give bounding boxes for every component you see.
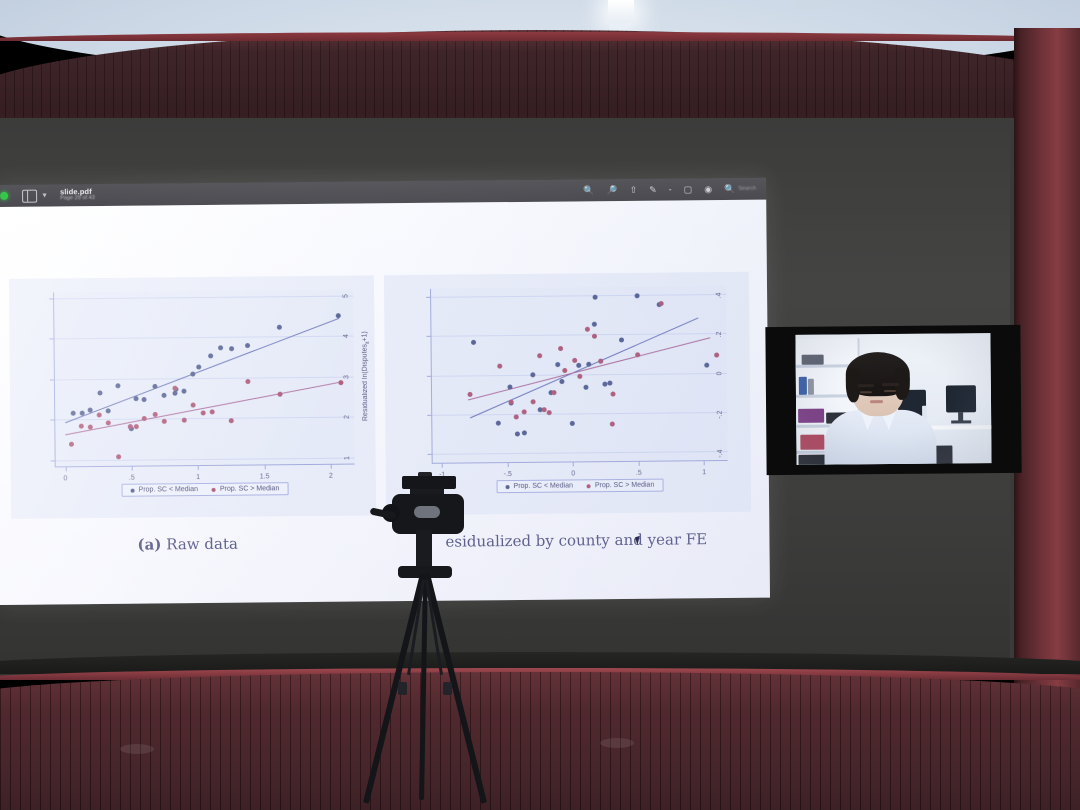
data-point [134, 425, 139, 430]
y-tick [49, 298, 53, 299]
ceiling-vent [795, 0, 829, 10]
caption-a-text: Raw data [166, 535, 238, 554]
scatter-plot-residualized: -.4-.20.2.4-1-.50.51Residualized ln(Disp… [430, 286, 728, 464]
data-point [115, 383, 120, 388]
data-point [245, 379, 250, 384]
participant-video [795, 333, 991, 465]
x-tick [639, 462, 640, 466]
lower-paneling-slats [0, 672, 1080, 810]
data-point [619, 338, 624, 343]
data-point [191, 402, 196, 407]
data-point [127, 424, 132, 429]
ceiling-light [608, 0, 634, 22]
document-title-block: slide.pdf Page 29 of 43 [60, 188, 95, 202]
x-tick-label: .5 [636, 470, 642, 477]
y-tick-label: 2 [344, 415, 351, 419]
y-tick-label: 0 [716, 371, 723, 375]
y-tick [49, 339, 53, 340]
x-tick-label: 2 [329, 473, 333, 480]
data-point [531, 399, 536, 404]
data-point [555, 362, 560, 367]
data-point [162, 393, 167, 398]
data-point [97, 413, 102, 418]
data-point [611, 392, 616, 397]
y-tick-label: 1 [344, 456, 351, 460]
x-tick [132, 467, 133, 471]
y-tick [50, 420, 54, 421]
leg-lock-left [398, 682, 407, 695]
data-point [468, 392, 473, 397]
data-point [592, 333, 597, 338]
toolbar-separator: - [669, 185, 672, 194]
x-tick [508, 463, 509, 467]
legend-marker [131, 488, 135, 492]
data-point [210, 410, 215, 415]
x-tick [264, 465, 265, 469]
data-point [576, 363, 581, 368]
data-point [658, 301, 663, 306]
y-tick [426, 297, 430, 298]
data-point [598, 359, 603, 364]
data-point [593, 295, 598, 300]
x-tick [573, 462, 574, 466]
data-point [208, 353, 213, 358]
data-point [498, 363, 503, 368]
chart-legend: Prop. SC < MedianProp. SC > Median [122, 482, 289, 497]
data-point [471, 340, 476, 345]
data-point [338, 380, 343, 385]
y-tick-label: 4 [343, 335, 350, 339]
camera-tripod [340, 470, 540, 810]
data-point [172, 385, 177, 390]
data-point [592, 322, 597, 327]
data-point [153, 412, 158, 417]
data-point [228, 418, 233, 423]
x-tick-label: 1 [702, 469, 706, 476]
video-call-tile[interactable] [765, 325, 1021, 475]
zoom-in-icon[interactable]: 🔎 [606, 186, 617, 195]
sidebar-toggle-icon[interactable] [22, 189, 37, 202]
thumbnails-icon[interactable]: ▢ [684, 185, 693, 194]
page-indicator: Page 29 of 43 [60, 196, 95, 202]
x-tick-label: 0 [63, 475, 67, 482]
data-point [182, 418, 187, 423]
y-tick-label: .2 [716, 332, 723, 338]
y-tick [50, 379, 54, 380]
data-point [635, 353, 640, 358]
data-point [547, 411, 552, 416]
search-box[interactable]: 🔍 Search [724, 184, 756, 193]
y-tick-label: .4 [716, 292, 723, 298]
legend-item: Prop. SC > Median [587, 482, 654, 490]
data-point [196, 364, 201, 369]
data-point [218, 345, 223, 350]
data-point [200, 410, 205, 415]
data-point [336, 313, 341, 318]
data-point [572, 358, 577, 363]
data-point [559, 379, 564, 384]
x-tick [331, 465, 332, 469]
data-point [152, 384, 157, 389]
data-point [570, 421, 575, 426]
x-tick [442, 464, 443, 468]
data-point [558, 346, 563, 351]
tripod-head-handle [414, 506, 440, 518]
data-point [142, 416, 147, 421]
data-point [162, 419, 167, 424]
y-tick [427, 375, 431, 376]
data-point [578, 374, 583, 379]
legend-label: Prop. SC < Median [139, 486, 198, 494]
x-tick [704, 461, 705, 465]
y-tick [51, 460, 55, 461]
wall-scuff [120, 744, 154, 754]
y-tick-label: 3 [343, 375, 350, 379]
data-point [142, 397, 147, 402]
data-point [98, 390, 103, 395]
data-point [106, 409, 111, 414]
markup-pen-icon[interactable]: ✎ [649, 185, 657, 194]
scatter-plot-raw: 123450.511.52ln(Disputesit+1)ShockitProp… [53, 290, 355, 468]
data-point [277, 392, 282, 397]
data-point [583, 385, 588, 390]
data-point [585, 326, 590, 331]
y-tick-label: 5 [343, 294, 350, 298]
search-icon: 🔍 [724, 184, 735, 193]
x-tick [198, 466, 199, 470]
legend-marker [212, 487, 216, 491]
data-point [705, 362, 710, 367]
data-point [87, 408, 92, 413]
data-point [507, 384, 512, 389]
wall-scuff [600, 738, 634, 748]
data-point [541, 407, 546, 412]
legend-label: Prop. SC > Median [220, 485, 279, 493]
recording-status-dot [0, 192, 8, 200]
rotate-icon[interactable]: ◉ [704, 185, 712, 194]
video-vignette [795, 333, 991, 465]
leg-lock-right [443, 682, 452, 695]
data-point [552, 390, 557, 395]
data-point [229, 346, 234, 351]
figure-a: 123450.511.52ln(Disputesit+1)ShockitProp… [9, 275, 376, 518]
data-point [608, 381, 613, 386]
chevron-down-icon[interactable]: ▼ [41, 192, 48, 199]
data-point [562, 368, 567, 373]
x-tick-label: .5 [129, 475, 135, 482]
data-point [514, 415, 519, 420]
lower-wood-paneling [0, 672, 1080, 810]
y-tick-label: -.4 [717, 450, 724, 458]
data-point [191, 372, 196, 377]
x-tick-label: 1.5 [260, 473, 270, 480]
data-point [134, 396, 139, 401]
data-point [70, 411, 75, 416]
y-tick [426, 336, 430, 337]
data-point [522, 409, 527, 414]
data-point [88, 425, 93, 430]
data-point [537, 353, 542, 358]
caption-a: (a) Raw data [137, 535, 238, 554]
data-point [530, 372, 535, 377]
legend-item: Prop. SC > Median [212, 485, 279, 493]
data-point [587, 361, 592, 366]
legend-marker [587, 484, 591, 488]
data-point [522, 430, 527, 435]
y-tick-label: -.2 [717, 410, 724, 418]
data-point [496, 420, 501, 425]
x-tick-label: 0 [571, 470, 575, 477]
camera-body [402, 476, 456, 489]
conference-room-photo: ▼ slide.pdf Page 29 of 43 🔍 🔎 ⇧ ✎ - ▢ ◉ … [0, 0, 1080, 810]
caption-a-tag: (a) [137, 535, 161, 553]
legend-item: Prop. SC < Median [131, 486, 198, 494]
data-point [610, 421, 615, 426]
data-point [69, 441, 74, 446]
data-point [78, 423, 83, 428]
data-point [635, 294, 640, 299]
x-tick [65, 467, 66, 471]
data-point [277, 325, 282, 330]
data-point [515, 431, 520, 436]
legend-label: Prop. SC > Median [595, 482, 654, 490]
data-point [508, 400, 513, 405]
data-point [80, 411, 85, 416]
data-point [182, 389, 187, 394]
y-tick [427, 415, 431, 416]
y-axis-title: Residualized ln(Disputesit+1) [361, 331, 371, 421]
zoom-out-icon[interactable]: 🔍 [583, 186, 594, 195]
data-point [714, 353, 719, 358]
data-point [245, 343, 250, 348]
pdf-toolbar: 🔍 🔎 ⇧ ✎ - ▢ ◉ 🔍 Search [583, 184, 766, 195]
share-icon[interactable]: ⇧ [630, 185, 638, 194]
x-tick-label: 1 [196, 474, 200, 481]
tripod-leg-right [424, 573, 487, 803]
data-point [106, 420, 111, 425]
y-tick [428, 454, 432, 455]
upper-trim [0, 32, 1080, 41]
data-point [116, 454, 121, 459]
search-placeholder: Search [738, 186, 756, 192]
